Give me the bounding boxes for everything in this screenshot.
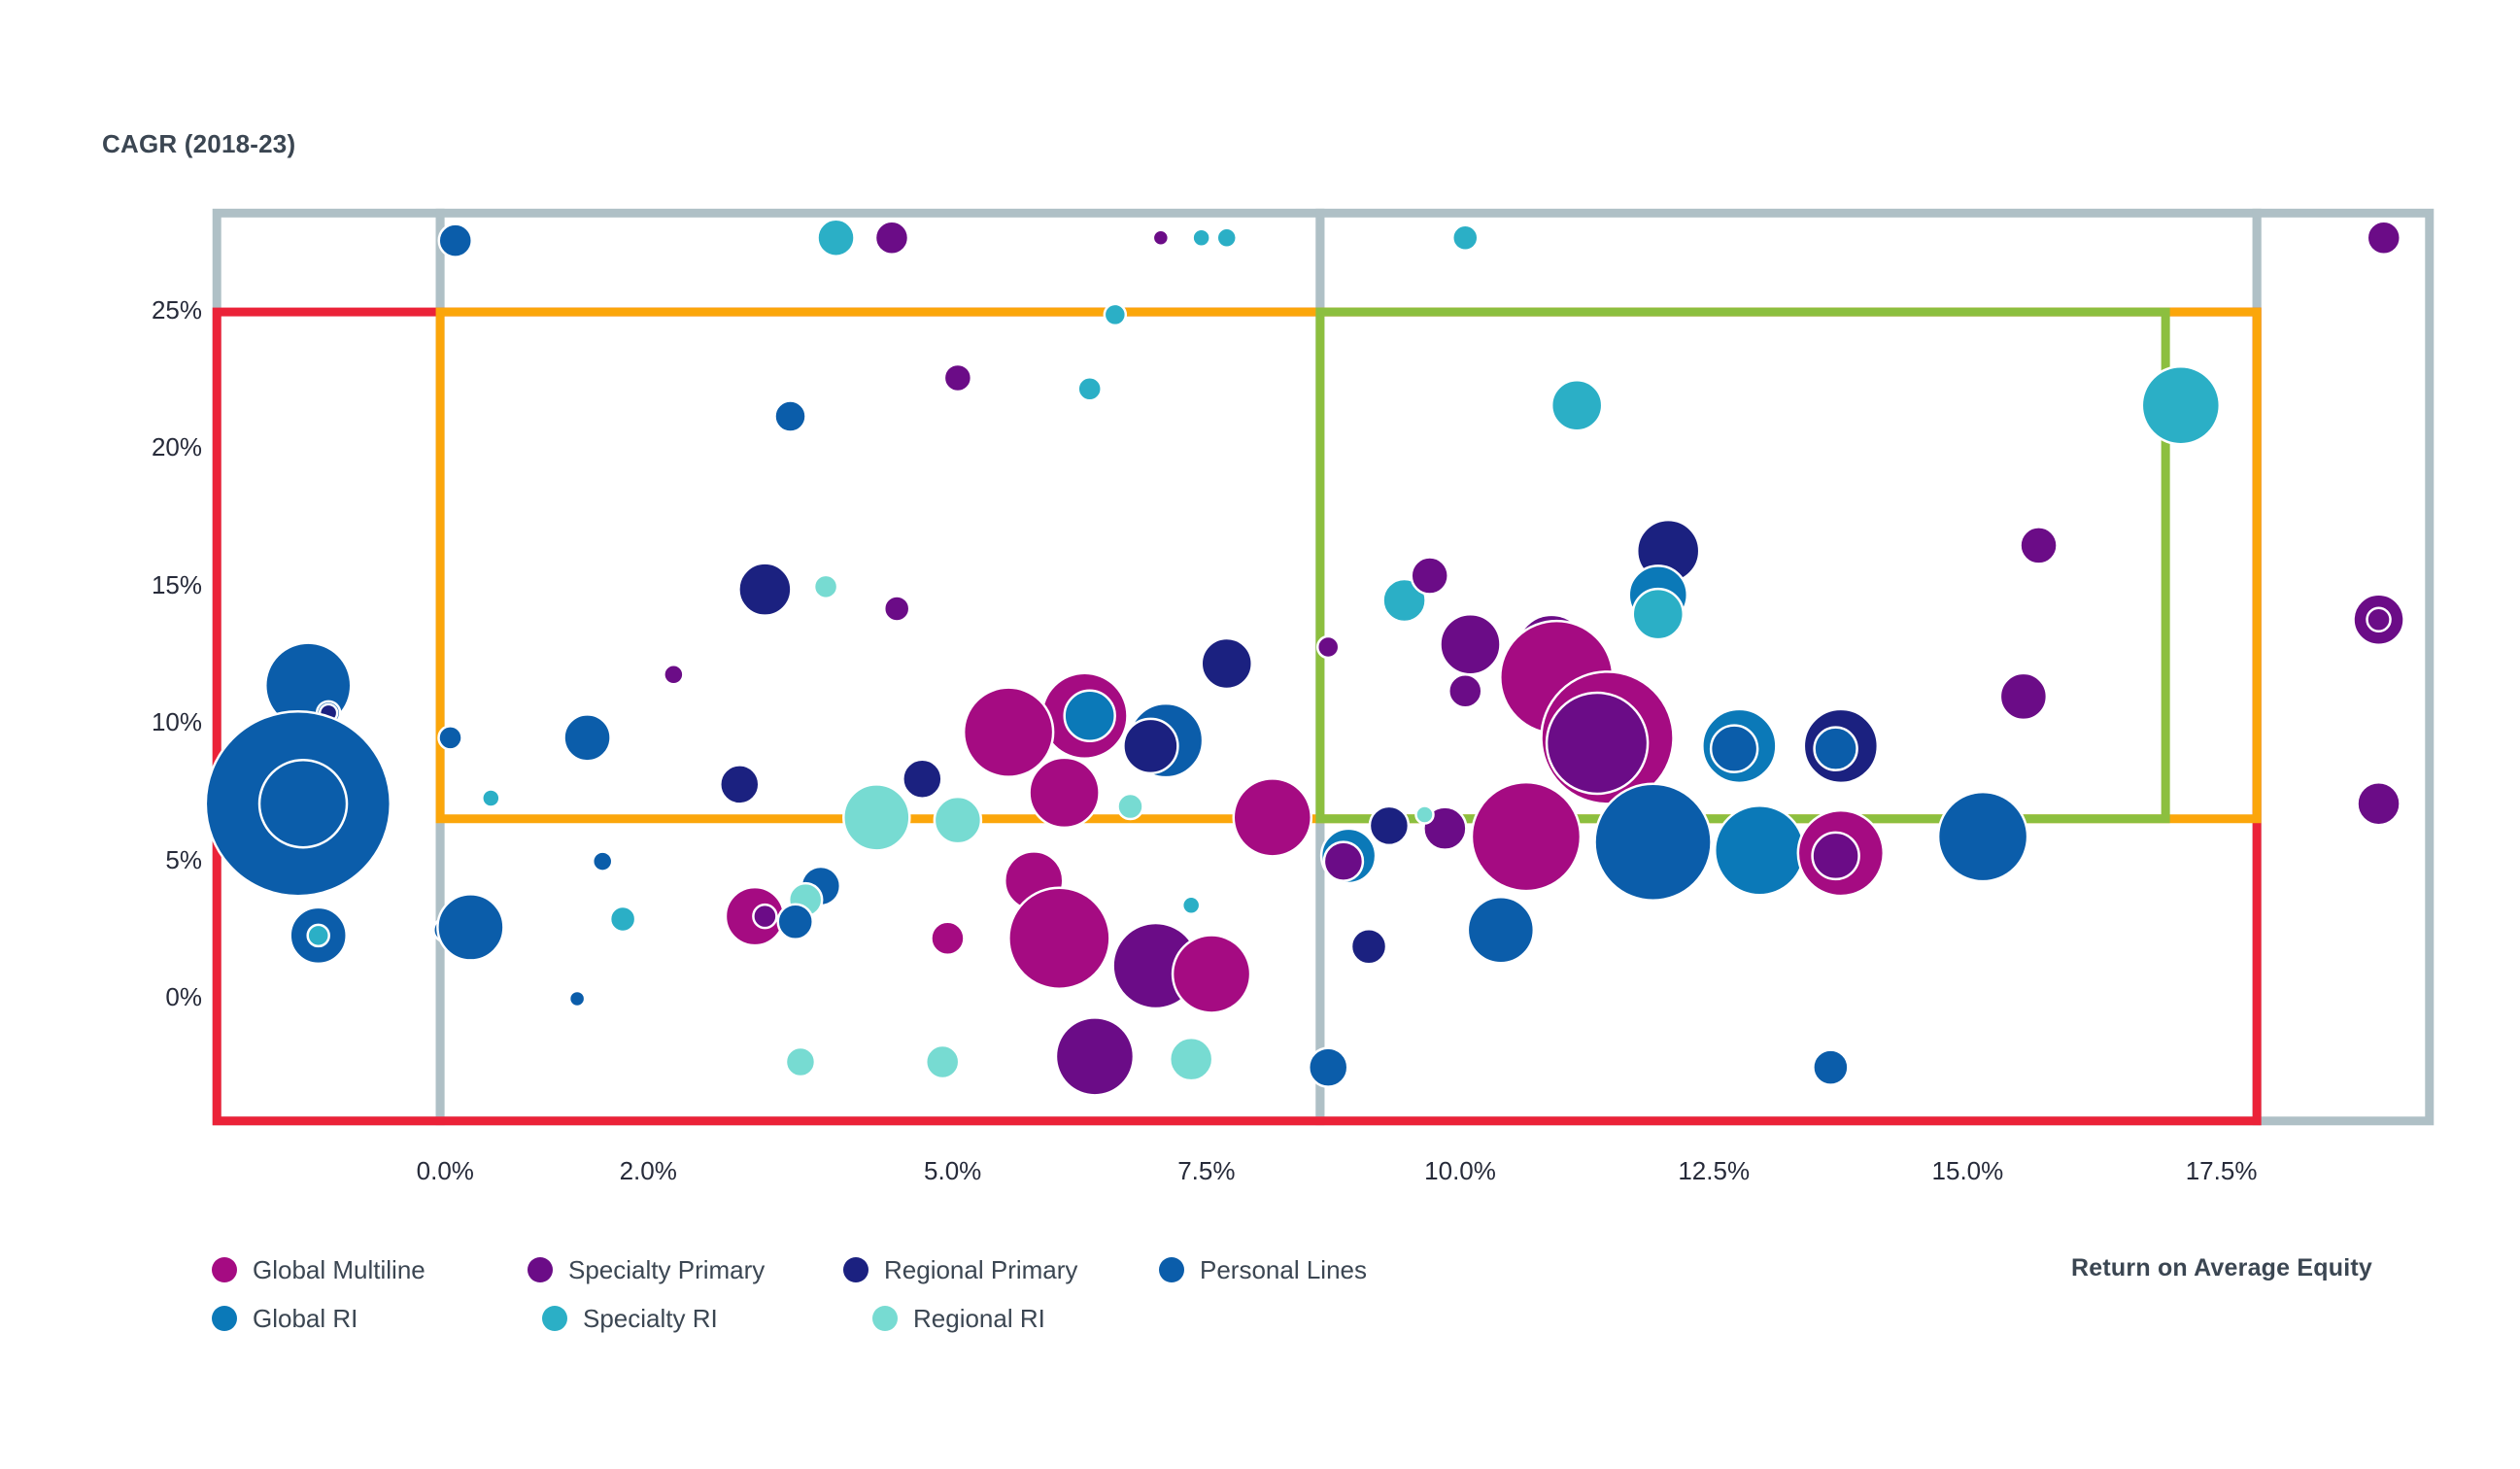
bubble-specialty-ri[interactable] <box>2142 366 2220 444</box>
legend-row-2: Global RISpecialty RIRegional RI <box>212 1294 1475 1343</box>
bubble-personal-lines[interactable] <box>439 726 462 749</box>
bubble-specialty-primary[interactable] <box>1324 842 1363 881</box>
bubble-specialty-primary[interactable] <box>875 222 908 255</box>
bubble-regional-primary[interactable] <box>720 765 759 803</box>
bubble-regional-primary[interactable] <box>1370 806 1409 845</box>
bubble-personal-lines[interactable] <box>1595 784 1712 901</box>
bubble-specialty-primary[interactable] <box>1056 1017 1134 1095</box>
bubble-global-ri[interactable] <box>1065 691 1115 741</box>
bubble-specialty-primary[interactable] <box>753 905 776 928</box>
bubble-regional-primary[interactable] <box>738 564 791 616</box>
legend-label: Global Multiline <box>253 1255 426 1285</box>
bubble-global-multiline[interactable] <box>1008 888 1109 989</box>
legend-swatch-icon <box>1159 1257 1184 1282</box>
bubble-specialty-ri[interactable] <box>1551 380 1602 430</box>
bubble-global-multiline[interactable] <box>931 922 964 955</box>
bubble-regional-primary[interactable] <box>1202 638 1252 689</box>
bubble-global-multiline[interactable] <box>1173 935 1250 1012</box>
bubble-global-multiline[interactable] <box>964 688 1053 777</box>
bubble-personal-lines[interactable] <box>775 401 806 432</box>
bubble-specialty-ri[interactable] <box>1633 589 1684 639</box>
bubble-personal-lines[interactable] <box>439 224 472 257</box>
bubble-regional-ri[interactable] <box>843 784 909 850</box>
bubble-regional-ri[interactable] <box>1415 806 1433 824</box>
legend-row-1: Global MultilineSpecialty PrimaryRegiona… <box>212 1246 1475 1294</box>
bubble-personal-lines[interactable] <box>1938 792 2027 881</box>
bubble-specialty-primary[interactable] <box>2000 673 2047 720</box>
bubble-specialty-primary[interactable] <box>1317 636 1339 658</box>
bubble-regional-ri[interactable] <box>786 1047 815 1076</box>
bubble-regional-primary[interactable] <box>902 760 941 799</box>
legend-swatch-icon <box>528 1257 553 1282</box>
legend-label: Personal Lines <box>1200 1255 1367 1285</box>
legend-item-global-ri[interactable]: Global RI <box>212 1304 542 1334</box>
bubble-specialty-ri[interactable] <box>308 925 329 946</box>
bubble-personal-lines[interactable] <box>564 714 611 761</box>
legend-swatch-icon <box>212 1306 237 1331</box>
reference-box-orange-box <box>440 312 2257 819</box>
legend-swatch-icon <box>843 1257 868 1282</box>
legend-item-specialty-primary[interactable]: Specialty Primary <box>528 1255 843 1285</box>
bubble-specialty-ri[interactable] <box>610 906 635 932</box>
bubble-specialty-ri[interactable] <box>818 220 855 256</box>
legend-item-personal-lines[interactable]: Personal Lines <box>1159 1255 1475 1285</box>
reference-boxes <box>217 213 2430 1120</box>
bubble-specialty-primary[interactable] <box>2367 608 2391 632</box>
legend-swatch-icon <box>542 1306 567 1331</box>
bubble-specialty-ri[interactable] <box>1217 228 1237 248</box>
legend-label: Regional Primary <box>884 1255 1077 1285</box>
bubble-personal-lines[interactable] <box>593 852 612 871</box>
bubble-personal-lines[interactable] <box>1711 726 1757 772</box>
chart-canvas: CAGR (2018-23) Return on Average Equity … <box>0 0 2520 1469</box>
bubble-specialty-ri[interactable] <box>1105 304 1126 325</box>
bubble-specialty-ri[interactable] <box>482 790 499 807</box>
legend-label: Specialty Primary <box>568 1255 765 1285</box>
legend-item-regional-primary[interactable]: Regional Primary <box>843 1255 1159 1285</box>
bubble-specialty-primary[interactable] <box>1547 693 1648 794</box>
bubble-specialty-primary[interactable] <box>2358 782 2401 825</box>
bubble-specialty-primary[interactable] <box>664 665 683 684</box>
bubble-regional-ri[interactable] <box>814 575 837 598</box>
bubble-specialty-ri[interactable] <box>1193 229 1210 247</box>
legend-item-regional-ri[interactable]: Regional RI <box>872 1304 1203 1334</box>
bubble-regional-primary[interactable] <box>1351 929 1386 964</box>
bubble-global-multiline[interactable] <box>1030 758 1100 828</box>
legend-label: Specialty RI <box>583 1304 718 1334</box>
bubble-personal-lines[interactable] <box>1815 728 1857 770</box>
bubble-regional-ri[interactable] <box>1170 1038 1212 1080</box>
bubble-specialty-ri[interactable] <box>1078 377 1102 400</box>
bubble-personal-lines[interactable] <box>1468 897 1534 963</box>
bubble-global-multiline[interactable] <box>1234 778 1311 856</box>
bubble-specialty-primary[interactable] <box>944 364 971 392</box>
bubble-global-ri[interactable] <box>1715 805 1804 895</box>
bubble-specialty-ri[interactable] <box>1452 225 1478 251</box>
bubble-specialty-primary[interactable] <box>1153 230 1169 246</box>
bubble-personal-lines[interactable] <box>1813 1050 1848 1085</box>
bubble-specialty-primary[interactable] <box>2367 222 2401 255</box>
bubble-specialty-ri[interactable] <box>1182 897 1200 914</box>
bubble-regional-primary[interactable] <box>1123 719 1177 773</box>
legend-swatch-icon <box>212 1257 237 1282</box>
legend-item-global-multiline[interactable]: Global Multiline <box>212 1255 528 1285</box>
legend-swatch-icon <box>872 1306 898 1331</box>
bubble-personal-lines[interactable] <box>437 894 503 960</box>
legend-label: Regional RI <box>913 1304 1045 1334</box>
bubble-specialty-primary[interactable] <box>884 596 909 621</box>
bubble-regional-ri[interactable] <box>926 1045 959 1078</box>
reference-box-outer-frame-far-right <box>2257 213 2430 1120</box>
bubble-specialty-primary[interactable] <box>1440 614 1500 674</box>
bubble-personal-lines[interactable] <box>569 991 585 1007</box>
bubble-personal-lines[interactable] <box>1309 1048 1347 1087</box>
bubble-personal-lines[interactable] <box>778 905 813 939</box>
legend-item-specialty-ri[interactable]: Specialty RI <box>542 1304 872 1334</box>
bubble-specialty-primary[interactable] <box>2021 527 2058 564</box>
bubble-specialty-primary[interactable] <box>1813 833 1859 879</box>
legend-label: Global RI <box>253 1304 358 1334</box>
bubble-regional-ri[interactable] <box>1117 794 1142 819</box>
bubble-marks <box>206 220 2404 1096</box>
bubble-specialty-primary[interactable] <box>1448 674 1481 707</box>
bubble-specialty-primary[interactable] <box>1412 558 1448 595</box>
bubble-personal-lines[interactable] <box>259 760 347 847</box>
legend: Global MultilineSpecialty PrimaryRegiona… <box>212 1246 1475 1343</box>
bubble-regional-ri[interactable] <box>935 797 981 843</box>
bubble-global-multiline[interactable] <box>1472 782 1581 891</box>
